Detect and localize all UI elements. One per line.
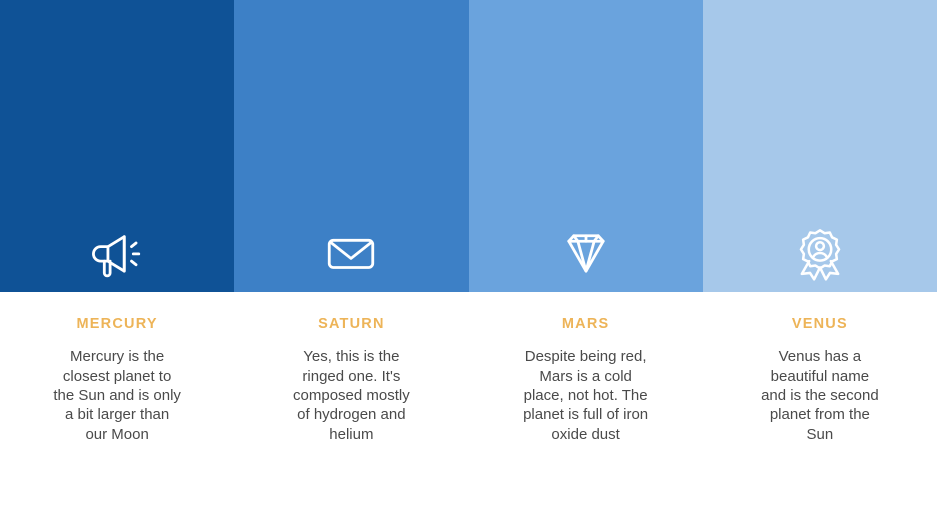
column-title-saturn: SATURN [256, 316, 446, 333]
column-title-venus: VENUS [725, 316, 915, 333]
color-band-row [0, 0, 937, 292]
text-column-mercury: MERCURY Mercury is the closest planet to… [0, 292, 234, 527]
text-column-mars: MARS Despite being red, Mars is a cold p… [469, 292, 703, 527]
column-title-mercury: MERCURY [22, 316, 212, 333]
column-body-saturn: Yes, this is the ringed one. It's compos… [256, 347, 446, 443]
color-band-mars [469, 0, 703, 292]
column-body-mercury: Mercury is the closest planet to the Sun… [22, 347, 212, 443]
color-band-venus [703, 0, 937, 292]
text-column-row: MERCURY Mercury is the closest planet to… [0, 292, 937, 527]
diamond-icon [469, 222, 703, 284]
text-column-venus: VENUS Venus has a beautiful name and is … [703, 292, 937, 527]
column-title-mars: MARS [491, 316, 681, 333]
infographic-slide: MERCURY Mercury is the closest planet to… [0, 0, 937, 527]
badge-person-icon [703, 222, 937, 284]
color-band-saturn [234, 0, 468, 292]
text-column-saturn: SATURN Yes, this is the ringed one. It's… [234, 292, 468, 527]
color-band-mercury [0, 0, 234, 292]
column-body-mars: Despite being red, Mars is a cold place,… [491, 347, 681, 443]
column-body-venus: Venus has a beautiful name and is the se… [725, 347, 915, 443]
envelope-icon [234, 222, 468, 284]
megaphone-icon [0, 222, 234, 284]
